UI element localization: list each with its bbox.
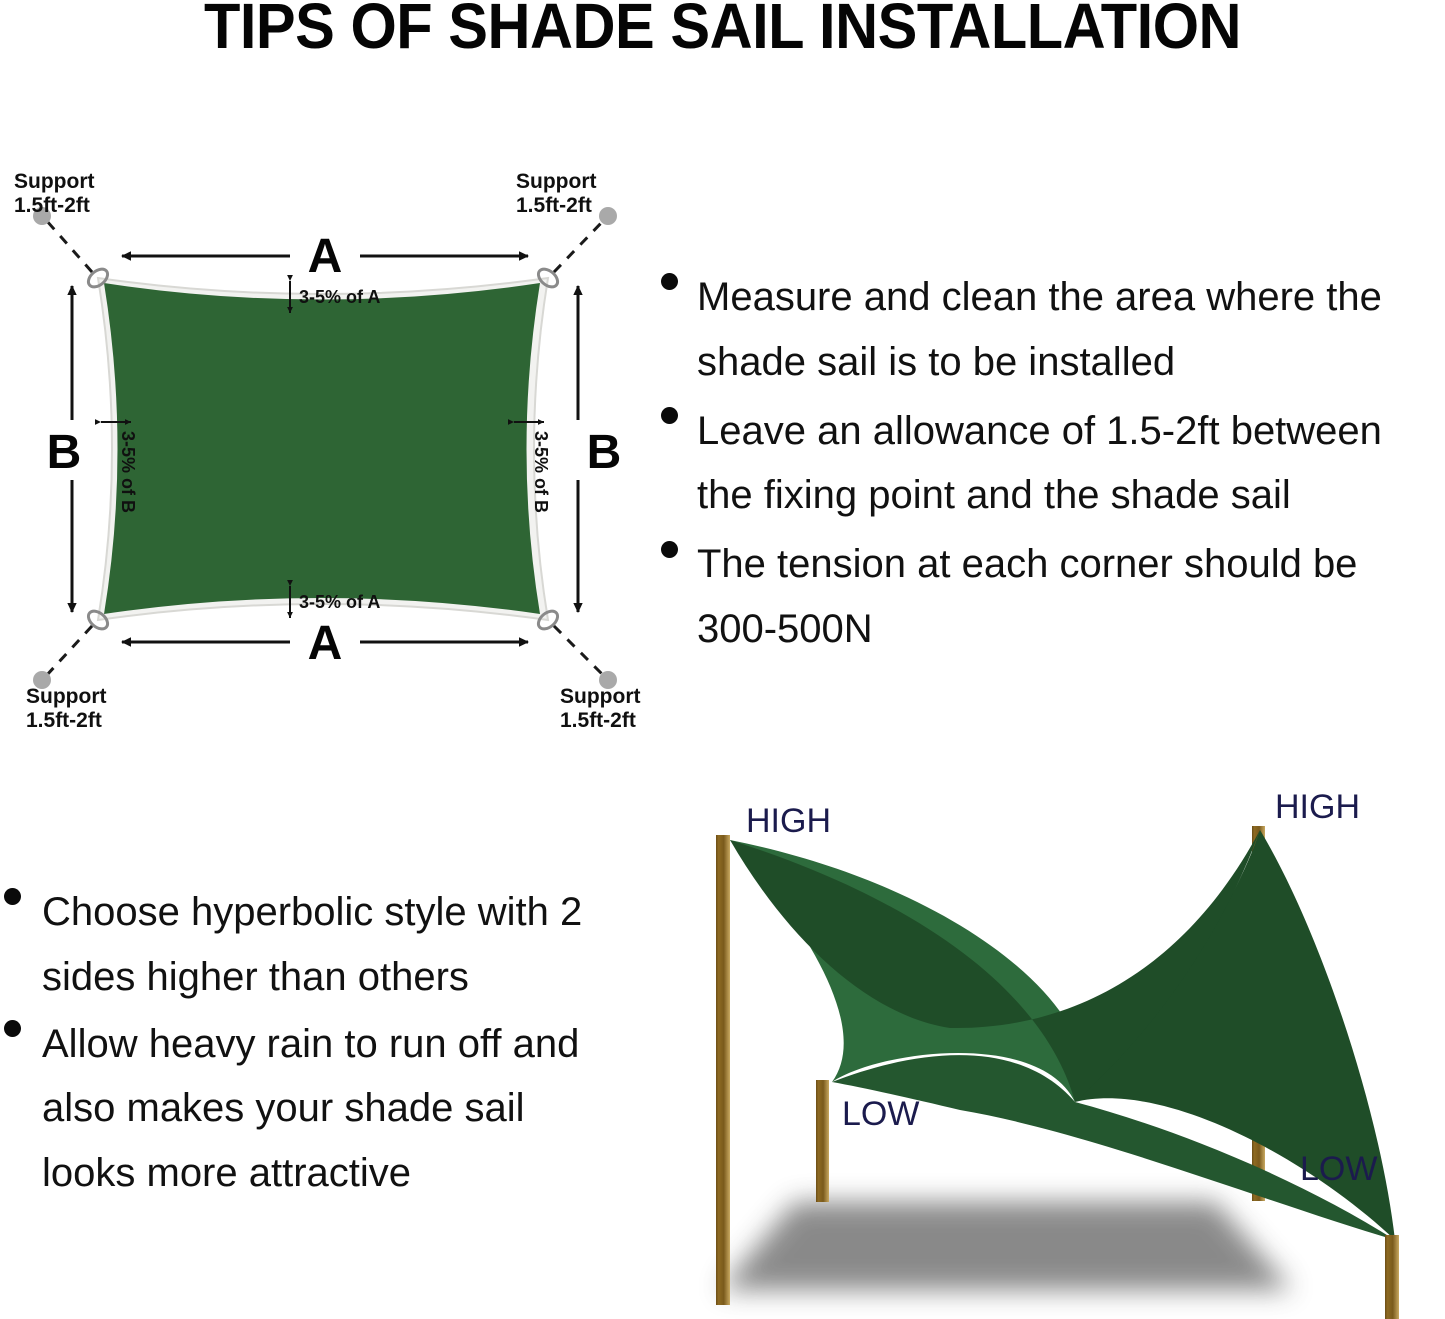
support-label-line2: 1.5ft-2ft [26, 709, 102, 732]
support-label-line2: 1.5ft-2ft [516, 194, 592, 217]
tip-text: The tension at each corner should be 300… [697, 532, 1445, 662]
curve-label-a-bottom: 3-5% of A [299, 592, 380, 612]
leader-top-left [46, 220, 92, 272]
tip-text: Allow heavy rain to run off and also mak… [42, 1012, 620, 1206]
bullet-dot-icon [661, 407, 678, 424]
leader-bottom-right [554, 626, 604, 676]
leader-bottom-left [46, 626, 92, 676]
tip-text: Leave an allowance of 1.5-2ft between th… [697, 399, 1445, 529]
list-item: Allow heavy rain to run off and also mak… [0, 1012, 620, 1206]
list-item: Leave an allowance of 1.5-2ft between th… [645, 399, 1445, 529]
label-low-right: LOW [1300, 1150, 1377, 1188]
tip-text: Measure and clean the area where the sha… [697, 265, 1445, 395]
dim-label-a-bottom: A [308, 617, 343, 670]
support-label-line1: Support [14, 170, 94, 193]
sail-shape [98, 278, 548, 620]
support-label-bottom-left: Support 1.5ft-2ft [26, 685, 106, 732]
rectangular-sail-diagram: Support 1.5ft-2ft Support 1.5ft-2ft Supp… [0, 150, 640, 730]
bullet-dot-icon [4, 888, 21, 905]
label-high-left: HIGH [746, 802, 831, 840]
support-label-line2: 1.5ft-2ft [560, 709, 636, 732]
curve-label-b-left: 3-5% of B [118, 431, 138, 513]
bullet-dot-icon [661, 273, 678, 290]
support-label-line1: Support [26, 685, 106, 708]
installation-tips-list: Measure and clean the area where the sha… [645, 265, 1445, 665]
post-low-left [816, 1080, 829, 1202]
post-low-right [1385, 1235, 1399, 1319]
hyperbolic-sail-diagram: HIGH HIGH LOW LOW [620, 780, 1445, 1319]
label-high-right: HIGH [1275, 788, 1360, 826]
support-dot-top-right [599, 207, 617, 225]
bullet-dot-icon [661, 541, 678, 558]
support-label-top-left: Support 1.5ft-2ft [14, 170, 94, 217]
sail-surface [730, 830, 1395, 1240]
tips-bullet-list: Measure and clean the area where the sha… [645, 265, 1445, 662]
leader-top-right [554, 220, 604, 272]
curve-label-a-top: 3-5% of A [299, 287, 380, 307]
tip-text: Choose hyperbolic style with 2 sides hig… [42, 880, 620, 1010]
dim-label-a-top: A [308, 230, 343, 283]
support-label-top-right: Support 1.5ft-2ft [516, 170, 596, 217]
list-item: Choose hyperbolic style with 2 sides hig… [0, 880, 620, 1010]
bullet-dot-icon [4, 1020, 21, 1037]
hyperbolic-tips-list: Choose hyperbolic style with 2 sides hig… [0, 880, 620, 1210]
sail-fabric [104, 283, 540, 614]
support-label-line2: 1.5ft-2ft [14, 194, 90, 217]
dim-label-b-right: B [587, 426, 622, 479]
support-label-line1: Support [560, 685, 640, 708]
list-item: The tension at each corner should be 300… [645, 532, 1445, 662]
curve-callout-b-left: 3-5% of B [101, 422, 138, 513]
label-low-left: LOW [842, 1095, 919, 1133]
page-title: TIPS OF SHADE SAIL INSTALLATION [51, 0, 1395, 58]
post-high-left [716, 835, 730, 1305]
hyperbolic-bullet-list: Choose hyperbolic style with 2 sides hig… [0, 880, 620, 1206]
ground-shadow [720, 1202, 1292, 1290]
curve-label-b-right: 3-5% of B [531, 431, 551, 513]
dim-label-b-left: B [47, 426, 82, 479]
support-label-bottom-right: Support 1.5ft-2ft [560, 685, 640, 732]
support-label-line1: Support [516, 170, 596, 193]
list-item: Measure and clean the area where the sha… [645, 265, 1445, 395]
